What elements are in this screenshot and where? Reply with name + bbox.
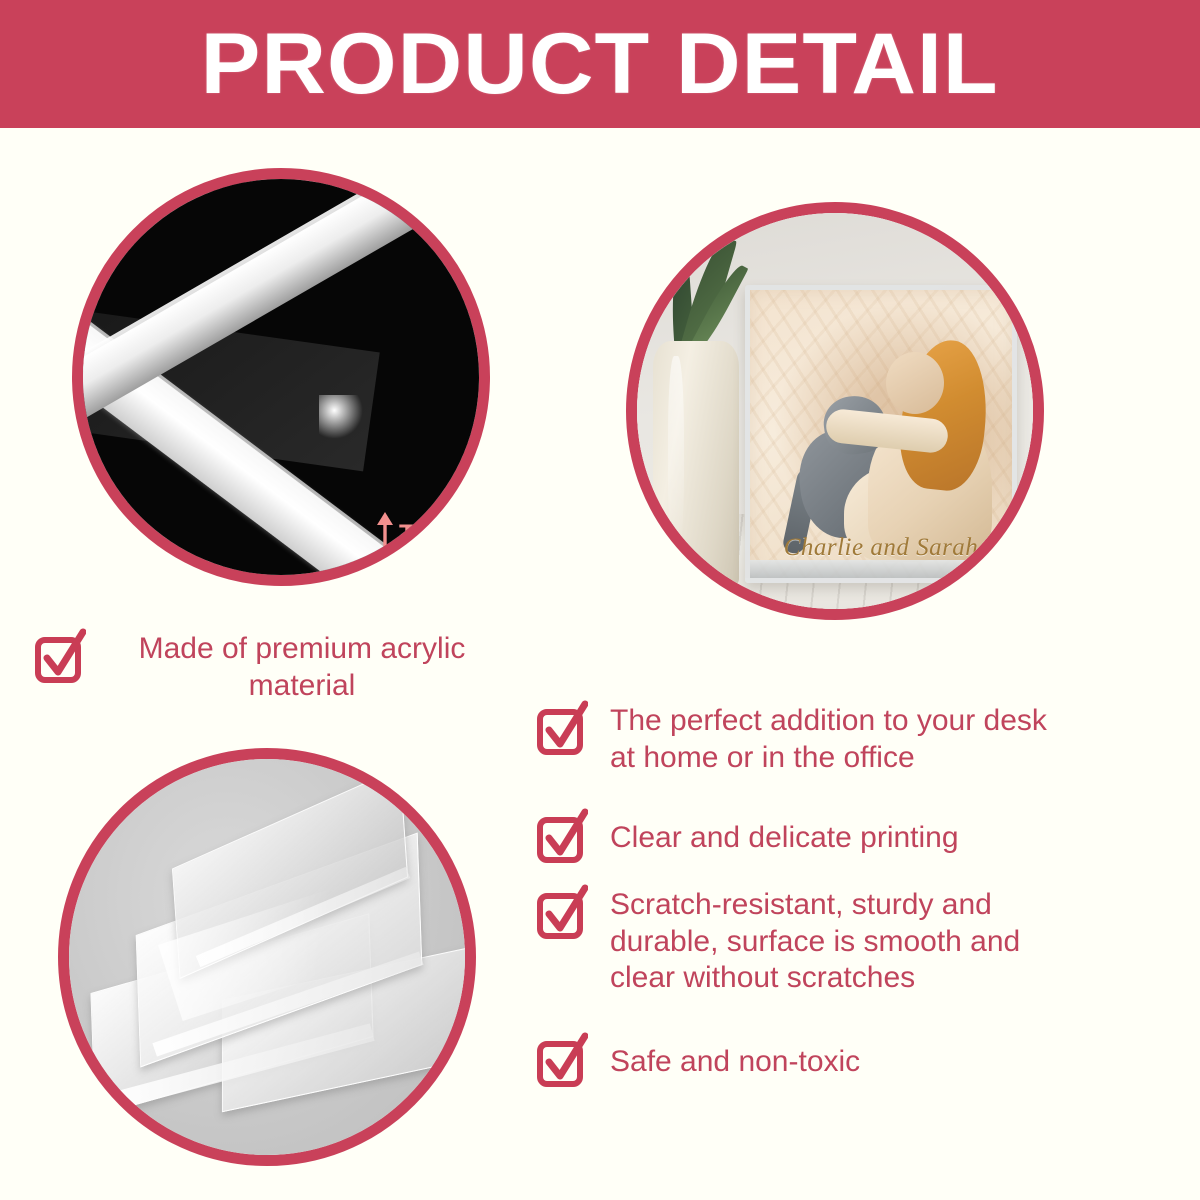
checkbox-checked-icon [536, 1032, 588, 1088]
photo-acrylic-edge-closeup: Thickness 0.55 in [72, 168, 490, 586]
ceramic-vase [653, 341, 739, 587]
feature-label: Clear and delicate printing [610, 808, 959, 857]
page-title: PRODUCT DETAIL [201, 21, 999, 107]
feature-label: Scratch-resistant, sturdy and durable, s… [610, 884, 1020, 997]
feature-item-material: Made of premium acrylic material [34, 628, 544, 704]
checkbox-checked-icon [536, 808, 588, 864]
checkbox-checked-icon [536, 700, 588, 756]
plaque-acrylic-base [750, 560, 1012, 582]
photo-product-inner: Charlie and Sarah [637, 213, 1033, 609]
feature-label: Made of premium acrylic material [100, 628, 504, 704]
header-band: PRODUCT DETAIL [0, 0, 1200, 128]
acrylic-corner-highlight [319, 395, 363, 439]
thickness-label: Thickness 0.55 in [399, 519, 479, 575]
photo-sheets-inner [69, 759, 465, 1155]
photo-stacked-acrylic-sheets [58, 748, 476, 1166]
feature-item-printing: Clear and delicate printing [536, 808, 1196, 864]
feature-label: The perfect addition to your desk at hom… [610, 700, 1047, 776]
feature-item-safe: Safe and non-toxic [536, 1032, 1196, 1088]
feature-item-desk: The perfect addition to your desk at hom… [536, 700, 1196, 776]
engraved-name: Charlie and Sarah [750, 534, 1012, 562]
acrylic-plaque: Charlie and Sarah [745, 285, 1017, 583]
feature-item-scratch-resistant: Scratch-resistant, sturdy and durable, s… [536, 884, 1196, 997]
figure-head [886, 352, 944, 414]
double-headed-vertical-arrow-icon [374, 512, 396, 575]
photo-acrylic-edge-inner: Thickness 0.55 in [83, 179, 479, 575]
checkbox-checked-icon [536, 884, 588, 940]
photo-product-on-desk: Charlie and Sarah [626, 202, 1044, 620]
feature-label: Safe and non-toxic [610, 1032, 860, 1081]
checkbox-checked-icon [34, 628, 86, 684]
